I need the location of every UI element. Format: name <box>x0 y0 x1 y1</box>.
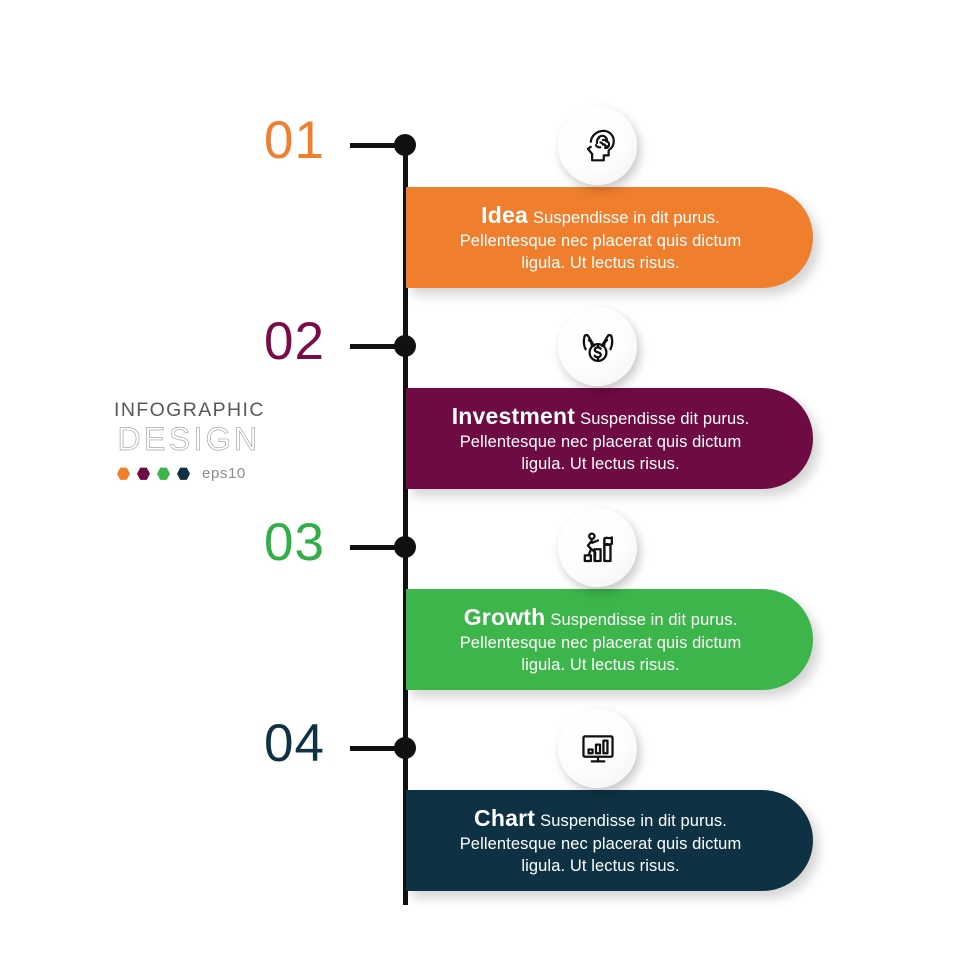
infographic-canvas: INFOGRAPHIC DESIGN eps10 01 IdeaSuspendi… <box>0 0 980 980</box>
head-brain-icon <box>576 124 620 168</box>
step-number-02: 02 <box>264 315 325 368</box>
step-number-04: 04 <box>264 717 325 770</box>
step-title-02: Investment <box>452 403 575 429</box>
person-climbing-chart-flag-icon <box>576 526 620 570</box>
swatch-hex-navy <box>177 467 190 480</box>
step-title-03: Growth <box>464 604 546 630</box>
logo-title-infographic: INFOGRAPHIC <box>114 400 264 420</box>
logo-color-swatches: eps10 <box>114 466 264 481</box>
step-text-03: GrowthSuspendisse in dit purus. Pellente… <box>436 602 766 676</box>
step-text-02: InvestmentSuspendisse dit purus. Pellent… <box>436 401 766 475</box>
step-node-dot-02[interactable] <box>394 335 416 357</box>
step-icon-bubble-02[interactable] <box>558 307 637 386</box>
logo-title-design: DESIGN <box>114 421 264 458</box>
step-node-dot-01[interactable] <box>394 134 416 156</box>
step-bar-04[interactable]: ChartSuspendisse in dit purus. Pellentes… <box>406 790 813 891</box>
eps-version-label: eps10 <box>202 466 246 481</box>
hands-holding-coin-icon <box>577 326 619 368</box>
swatch-hex-green <box>157 467 170 480</box>
step-icon-bubble-04[interactable] <box>558 709 637 788</box>
step-number-03: 03 <box>264 516 325 569</box>
step-text-01: IdeaSuspendisse in dit purus. Pellentesq… <box>436 200 766 274</box>
step-bar-03[interactable]: GrowthSuspendisse in dit purus. Pellente… <box>406 589 813 690</box>
logo-block: INFOGRAPHIC DESIGN eps10 <box>114 400 264 481</box>
step-title-04: Chart <box>474 805 535 831</box>
step-bar-02[interactable]: InvestmentSuspendisse dit purus. Pellent… <box>406 388 813 489</box>
monitor-bar-chart-icon <box>577 728 619 770</box>
step-text-04: ChartSuspendisse in dit purus. Pellentes… <box>436 803 766 877</box>
step-node-dot-04[interactable] <box>394 737 416 759</box>
step-node-dot-03[interactable] <box>394 536 416 558</box>
step-title-01: Idea <box>481 202 528 228</box>
step-icon-bubble-03[interactable] <box>558 508 637 587</box>
step-bar-01[interactable]: IdeaSuspendisse in dit purus. Pellentesq… <box>406 187 813 288</box>
step-number-01: 01 <box>264 114 325 167</box>
step-icon-bubble-01[interactable] <box>558 106 637 185</box>
swatch-hex-purple <box>137 467 150 480</box>
swatch-hex-orange <box>117 467 130 480</box>
